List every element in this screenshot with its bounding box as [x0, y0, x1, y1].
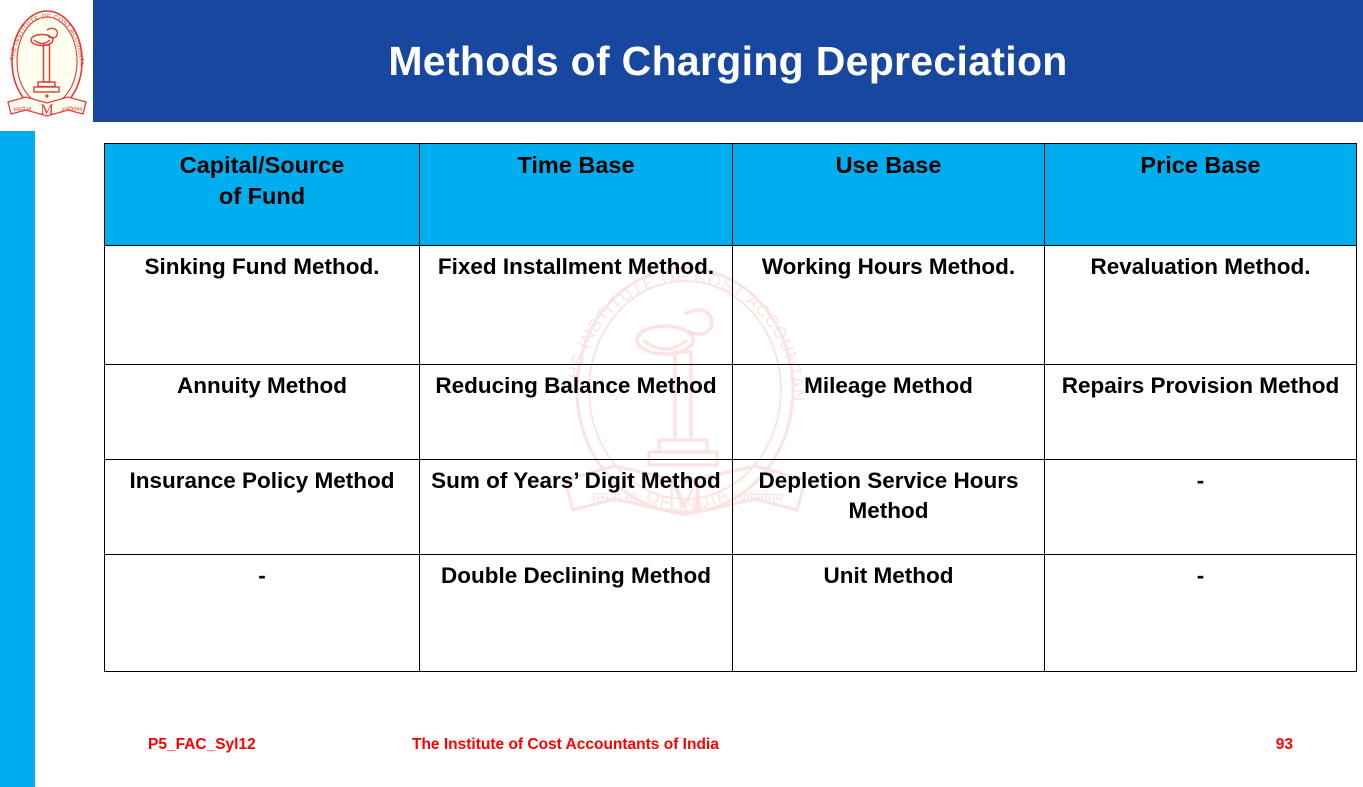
- cell-capital-source-of-fund: Insurance Policy Method: [105, 460, 420, 555]
- cell-capital-source-of-fund: Annuity Method: [105, 365, 420, 460]
- footer-page-number: 93: [1276, 736, 1293, 754]
- cell-time-base: Reducing Balance Method: [420, 365, 733, 460]
- left-accent-bar: [0, 131, 35, 787]
- cell-use-base: Depletion Service Hours Method: [733, 460, 1045, 555]
- column-header-use-base: Use Base: [733, 144, 1045, 246]
- slide-footer: P5_FAC_Syl12 The Institute of Cost Accou…: [0, 736, 1363, 762]
- cell-time-base: Fixed Installment Method.: [420, 246, 733, 365]
- cell-capital-source-of-fund: Sinking Fund Method.: [105, 246, 420, 365]
- column-header-capital-source-of-fund: Capital/Source of Fund: [105, 144, 420, 246]
- column-header-time-base: Time Base: [420, 144, 733, 246]
- svg-text:M: M: [40, 102, 53, 118]
- cell-use-base: Unit Method: [733, 555, 1045, 672]
- table-row: Sinking Fund Method. Fixed Installment M…: [105, 246, 1357, 365]
- table-header: Capital/Source of Fund Time Base Use Bas…: [105, 144, 1357, 246]
- table-row: Insurance Policy Method Sum of Years’ Di…: [105, 460, 1357, 555]
- cell-time-base: Sum of Years’ Digit Method: [420, 460, 733, 555]
- table-row: - Double Declining Method Unit Method -: [105, 555, 1357, 672]
- table-body: Sinking Fund Method. Fixed Installment M…: [105, 246, 1357, 672]
- cell-time-base: Double Declining Method: [420, 555, 733, 672]
- cell-price-base: Revaluation Method.: [1045, 246, 1357, 365]
- cell-use-base: Mileage Method: [733, 365, 1045, 460]
- column-header-price-base: Price Base: [1045, 144, 1357, 246]
- column-header-line-1: Capital/Source: [180, 152, 345, 178]
- table-row: Annuity Method Reducing Balance Method M…: [105, 365, 1357, 460]
- svg-text:ज्योतिर्गमय: ज्योतिर्गमय: [62, 106, 84, 113]
- table-header-row: Capital/Source of Fund Time Base Use Bas…: [105, 144, 1357, 246]
- slide-canvas: Methods of Charging Depreciation THE INS…: [0, 0, 1363, 787]
- cell-capital-source-of-fund: -: [105, 555, 420, 672]
- cell-use-base: Working Hours Method.: [733, 246, 1045, 365]
- footer-organization: The Institute of Cost Accountants of Ind…: [412, 736, 719, 754]
- cell-price-base: -: [1045, 555, 1357, 672]
- methods-of-depreciation-table: Capital/Source of Fund Time Base Use Bas…: [104, 143, 1357, 672]
- cell-price-base: Repairs Provision Method: [1045, 365, 1357, 460]
- svg-text:असतो मा: असतो मा: [13, 106, 32, 113]
- page-title: Methods of Charging Depreciation: [93, 0, 1363, 122]
- footer-subject-code: P5_FAC_Syl12: [148, 736, 256, 754]
- column-header-line-2: of Fund: [219, 183, 305, 209]
- institute-logo: THE INSTITUTE OF COST ACCOUNTANTS OF IND…: [4, 4, 90, 122]
- cell-price-base: -: [1045, 460, 1357, 555]
